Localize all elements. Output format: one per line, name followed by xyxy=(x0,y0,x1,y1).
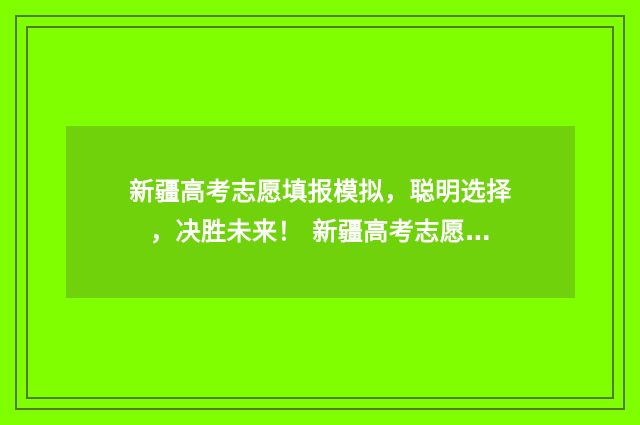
banner-headline: 新疆高考志愿填报模拟，聪明选择 ，决胜未来！ 新疆高考志愿… xyxy=(129,172,512,253)
banner-canvas: 新疆高考志愿填报模拟，聪明选择 ，决胜未来！ 新疆高考志愿… xyxy=(0,0,640,425)
headline-panel: 新疆高考志愿填报模拟，聪明选择 ，决胜未来！ 新疆高考志愿… xyxy=(66,126,575,298)
